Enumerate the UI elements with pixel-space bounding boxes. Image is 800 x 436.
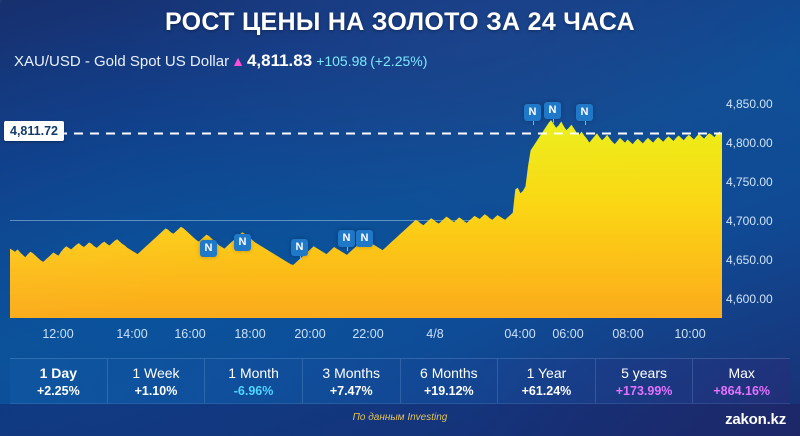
- timeframe-label: 1 Week: [132, 365, 179, 381]
- time-axis-tick: 4/8: [426, 327, 443, 341]
- price-change-percent: (+2.25%): [367, 53, 427, 69]
- timeframe-change-value: +2.25%: [37, 384, 80, 398]
- news-marker-icon[interactable]: N: [524, 104, 541, 121]
- timeframe-button-6-months[interactable]: 6 Months+19.12%: [401, 359, 499, 403]
- price-axis-tick: 4,800.00: [726, 136, 773, 150]
- news-marker-icon[interactable]: N: [234, 234, 251, 251]
- timeframe-change-value: +61.24%: [522, 384, 572, 398]
- time-axis-tick: 14:00: [116, 327, 147, 341]
- brand-logo: zakon.kz: [725, 411, 786, 428]
- timeframe-label: 5 years: [621, 365, 667, 381]
- time-axis-tick: 08:00: [612, 327, 643, 341]
- time-axis-tick: 12:00: [42, 327, 73, 341]
- timeframe-change-value: +7.47%: [330, 384, 373, 398]
- news-marker-icon[interactable]: N: [200, 240, 217, 257]
- chart-canvas: [10, 88, 722, 318]
- timeframe-label: 1 Day: [40, 365, 77, 381]
- source-note: По данным Investing: [0, 412, 800, 423]
- arrow-up-icon: ▲: [229, 53, 247, 69]
- time-axis-tick: 18:00: [234, 327, 265, 341]
- time-axis-tick: 06:00: [552, 327, 583, 341]
- timeframe-change-value: +1.10%: [135, 384, 178, 398]
- timeframe-label: 1 Month: [228, 365, 279, 381]
- timeframe-change-value: +19.12%: [424, 384, 474, 398]
- timeframe-button-1-week[interactable]: 1 Week+1.10%: [108, 359, 206, 403]
- time-axis: 12:0014:0016:0018:0020:0022:004/804:0006…: [0, 327, 800, 351]
- timeframe-label: 6 Months: [420, 365, 478, 381]
- timeframe-button-1-day[interactable]: 1 Day+2.25%: [10, 359, 108, 403]
- timeframe-change-value: +173.99%: [616, 384, 673, 398]
- price-axis-tick: 4,750.00: [726, 175, 773, 189]
- area-sheen: [10, 120, 722, 318]
- timeframe-button-max[interactable]: Max+864.16%: [693, 359, 790, 403]
- timeframe-button-5-years[interactable]: 5 years+173.99%: [596, 359, 694, 403]
- price-change: +105.98: [312, 53, 367, 69]
- price-axis-tick: 4,650.00: [726, 253, 773, 267]
- price-axis-tick: 4,700.00: [726, 214, 773, 228]
- timeframe-change-value: -6.96%: [234, 384, 274, 398]
- news-marker-icon[interactable]: N: [291, 239, 308, 256]
- timeframe-label: Max: [728, 365, 754, 381]
- price-chart: NNNNNNNN: [10, 88, 722, 318]
- news-marker-icon[interactable]: N: [544, 102, 561, 119]
- timeframe-button-1-month[interactable]: 1 Month-6.96%: [205, 359, 303, 403]
- infographic-root: РОСТ ЦЕНЫ НА ЗОЛОТО ЗА 24 ЧАСА XAU/USD -…: [0, 0, 800, 436]
- timeframe-label: 1 Year: [527, 365, 567, 381]
- timeframe-change-value: +864.16%: [713, 384, 770, 398]
- time-axis-tick: 16:00: [174, 327, 205, 341]
- time-axis-tick: 10:00: [674, 327, 705, 341]
- timeframe-button-3-months[interactable]: 3 Months+7.47%: [303, 359, 401, 403]
- time-axis-tick: 22:00: [352, 327, 383, 341]
- news-marker-icon[interactable]: N: [576, 104, 593, 121]
- instrument-name: XAU/USD - Gold Spot US Dollar: [14, 53, 229, 70]
- time-axis-tick: 04:00: [504, 327, 535, 341]
- current-price-badge: 4,811.72: [4, 121, 64, 141]
- news-marker-icon[interactable]: N: [338, 230, 355, 247]
- news-marker-icon[interactable]: N: [356, 230, 373, 247]
- time-axis-tick: 20:00: [294, 327, 325, 341]
- current-price: 4,811.83: [247, 51, 312, 70]
- price-axis-tick: 4,850.00: [726, 97, 773, 111]
- timeframe-label: 3 Months: [322, 365, 380, 381]
- instrument-quote-line: XAU/USD - Gold Spot US Dollar▲4,811.83+1…: [14, 51, 427, 71]
- price-axis: 4,600.004,650.004,700.004,750.004,800.00…: [726, 88, 800, 320]
- timeframe-selector[interactable]: 1 Day+2.25%1 Week+1.10%1 Month-6.96%3 Mo…: [10, 358, 790, 404]
- price-axis-tick: 4,600.00: [726, 292, 773, 306]
- page-title: РОСТ ЦЕНЫ НА ЗОЛОТО ЗА 24 ЧАСА: [0, 8, 800, 37]
- timeframe-button-1-year[interactable]: 1 Year+61.24%: [498, 359, 596, 403]
